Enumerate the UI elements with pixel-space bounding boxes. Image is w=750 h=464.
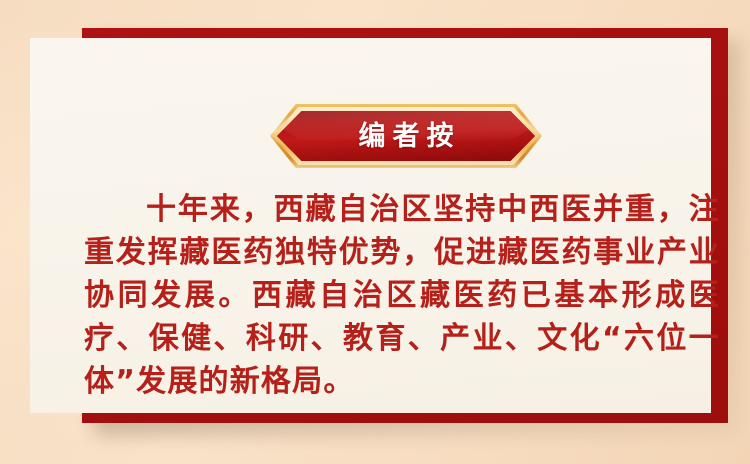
badge-label: 编者按: [270, 104, 542, 168]
editors-note-badge: 编者按: [270, 104, 542, 168]
content-panel: 编者按 十年来，西藏自治区坚持中西医并重，注重发挥藏医药独特优势，促进藏医药事业…: [30, 38, 711, 413]
article-body-text: 十年来，西藏自治区坚持中西医并重，注重发挥藏医药独特优势，促进藏医药事业产业协同…: [84, 188, 720, 403]
editors-note-card: 编者按 十年来，西藏自治区坚持中西医并重，注重发挥藏医药独特优势，促进藏医药事业…: [0, 0, 750, 464]
